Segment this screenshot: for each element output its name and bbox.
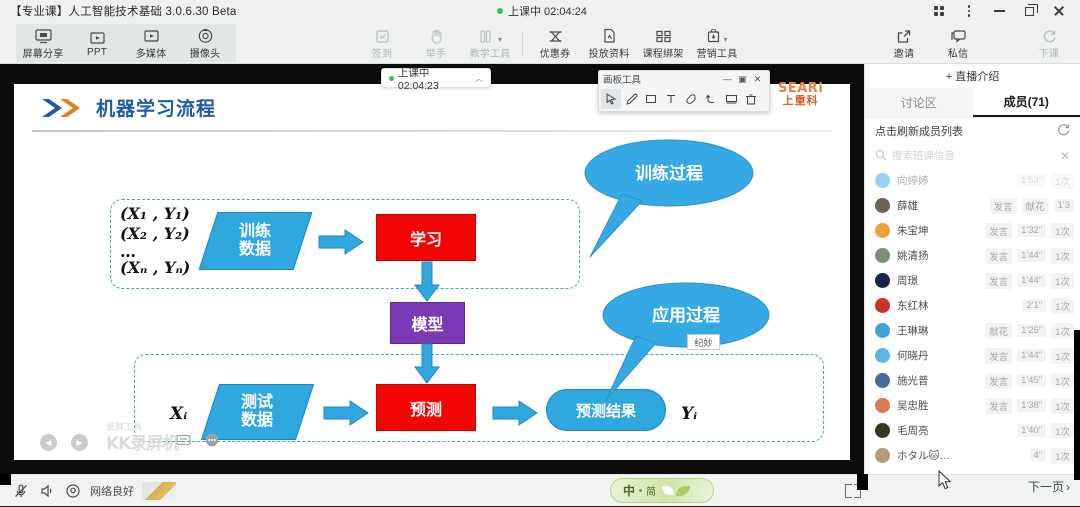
screen-share-icon [35,27,52,44]
next-page-label: 下一页 [1028,478,1064,495]
artifact-square-center [857,474,868,490]
speaker-icon[interactable] [34,475,60,507]
toolbar-label: 邀请 [894,45,914,60]
eraser-icon[interactable] [681,89,701,109]
member-name: 毛周亮 [897,423,929,438]
next-page-button[interactable]: 下一页 › [1028,478,1070,495]
member-row[interactable]: 周璟发言1'44"1次 [865,268,1080,293]
member-row[interactable]: ホタル🐱…4"1次 [865,443,1080,464]
close-icon[interactable] [1044,0,1074,22]
node-label-line1: 测试 [241,394,273,412]
member-row[interactable]: 东红林2'1"1次 [865,293,1080,318]
drawing-tool-title: 画板工具 [603,72,641,86]
logo-line-1: SEARi [778,82,823,95]
prev-icon[interactable]: ◀ [40,434,57,451]
node-learn: 学习 [376,214,476,261]
member-row[interactable]: 向婷婷1'53"1次 [865,168,1080,193]
member-tag: 发言 [985,248,1012,264]
toolbar-push-material[interactable]: 投放资料 [582,24,636,62]
presentation-stage: 机器学习流程 (X₁ , Y₁) (X₂ , Y₂) … (Xₙ , Yₙ) 训… [0,64,864,474]
avatar [875,298,890,313]
minimize-icon[interactable]: — [720,72,735,86]
member-row[interactable]: 姚清扬发言1'44"1次 [865,243,1080,268]
slide-canvas[interactable]: 机器学习流程 (X₁ , Y₁) (X₂ , Y₂) … (Xₙ , Yₙ) 训… [14,84,850,460]
avatar [875,223,890,238]
artifact-bar-right [1074,330,1080,480]
toolbar-raise-hand[interactable]: 举手 [409,24,463,62]
toolbar-ppt[interactable]: PPT [70,24,124,62]
ime-leaf-icon [662,486,674,495]
member-tag: 1次 [1051,223,1074,239]
arrow-predict-to-result [491,399,539,427]
toolbar-label: 签到 [372,45,392,60]
marketing-tools-icon: ▾ [706,27,727,44]
toolbar-divider [522,31,523,55]
member-tag: 1'40" [1017,424,1046,437]
seari-logo: SEARi 上重科 [778,82,823,107]
member-tags: 发言1'44"1次 [985,248,1074,264]
node-label-line2: 数据 [241,412,273,430]
drawing-tool-titlebar: 画板工具 — ▣ ✕ [599,71,769,87]
member-name: ホタル🐱… [897,448,950,463]
node-training-data: 训练 数据 [199,212,313,270]
member-name: 姚清扬 [897,248,929,263]
avatar [875,273,890,288]
close-icon[interactable]: ✕ [750,72,765,86]
maximize-icon[interactable]: ▣ [735,72,750,86]
member-tag: 1'45" [1017,374,1046,387]
bubble-application-process: 应用过程 [602,282,770,348]
member-name: 东红林 [897,298,929,313]
avatar [875,373,890,388]
close-icon[interactable]: ✕ [1060,149,1070,163]
live-class-app: 【专业课】人工智能技术基础 3.0.6.30 Beta 上课中 02:04:24… [0,0,1080,506]
member-tag: 1'44" [1017,274,1046,287]
node-test-data: 测试 数据 [201,384,314,440]
member-tags: 2'1"1次 [1022,298,1074,314]
member-name: 施光普 [897,373,929,388]
member-tag: 1次 [1051,373,1074,389]
window-title: 【专业课】人工智能技术基础 3.0.6.30 Beta [10,3,237,19]
multimedia-icon [143,27,160,44]
member-tag: 发言 [990,198,1017,214]
toolbar-label: 屏幕分享 [23,45,64,60]
coupon-icon [547,27,564,44]
camera-icon [197,27,214,44]
member-tag: 1次 [1051,398,1074,414]
camera-icon[interactable] [60,475,86,507]
math-row-4: (Xₙ , Yₙ) [120,258,190,277]
floating-class-timer[interactable]: 上课中 02:04:23 ︿ [381,68,491,88]
member-tag: 1次 [1051,448,1074,464]
member-tag: 1'25" [1017,324,1046,337]
grid-icon[interactable] [924,0,954,22]
cursor-icon[interactable] [601,89,621,109]
member-tag: 1次 [1051,273,1074,289]
teaching-tools-icon: ▾ [478,27,502,44]
member-tag: 发言 [985,223,1012,239]
bottom-status-bar: 网络良好 [0,474,1080,506]
member-tag: 1'44" [1017,249,1046,262]
member-tag: 献花 [1022,198,1049,214]
toolbar-label: 多媒体 [136,45,167,60]
recorder-watermark: 录屏工具 KK录屏机 [106,420,178,454]
refresh-label: 点击刷新成员列表 [875,123,963,139]
end-class-icon [1042,27,1057,44]
maximize-icon[interactable] [1014,0,1044,22]
search-icon [875,149,887,164]
toolbar-label: 投放资料 [589,45,630,60]
member-search-bar[interactable]: ✕ [865,144,1080,168]
member-tag: 4" [1030,449,1047,462]
next-icon[interactable]: ▶ [71,434,88,451]
member-tag: 发言 [985,373,1012,389]
chevron-up-icon[interactable]: ︿ [475,73,483,84]
arrow-test-to-predict [322,399,370,427]
avatar [875,398,890,413]
member-tags: 发言1'44"1次 [985,348,1074,364]
math-row-1: (X₁ , Y₁) [120,204,190,223]
member-tag: 1'32" [1017,224,1046,237]
member-tag: 1次 [1051,298,1074,314]
node-label-line2: 数据 [239,241,271,259]
member-name: 向婷婷 [897,173,929,188]
network-status: 网络良好 [90,483,134,499]
member-name: 何晓丹 [897,348,929,363]
page-title: 机器学习流程 [96,94,216,121]
private-message-icon [950,27,967,44]
toolbar-private-message[interactable]: 私信 [931,24,985,62]
member-tag: 发言 [985,273,1012,289]
member-tag: 1次 [1051,348,1074,364]
avatar [875,173,890,188]
member-tags: 1'40"1次 [1017,423,1074,439]
member-tag: 献花 [985,323,1012,339]
member-row[interactable]: 施光普发言1'45"1次 [865,368,1080,393]
checkin-icon [375,27,390,44]
mic-muted-icon[interactable] [8,475,34,507]
arrow-learn-to-model [413,261,441,303]
toolbar-checkin[interactable]: 签到 [355,24,409,62]
toolbar-screen-share[interactable]: 屏幕分享 [16,24,70,62]
node-predict: 预测 [376,384,476,431]
toolbar-label: 下课 [1039,45,1059,60]
ppt-icon [89,29,106,46]
whiteboard-icon[interactable] [721,89,741,109]
member-row[interactable]: 毛周亮1'40"1次 [865,418,1080,443]
member-name: 周璟 [897,273,918,288]
course-bind-icon [655,27,672,44]
live-status: 上课中 02:04:24 [497,0,587,22]
artifact-square-left [0,474,11,485]
member-tag: 1'38" [1017,399,1046,412]
toolbar-marketing-tools[interactable]: ▾ 营销工具 [690,24,744,62]
toolbar-label: 课程绑架 [643,45,684,60]
ime-dot-icon [639,489,642,492]
ime-floating-bar[interactable]: 中 简 [610,478,714,503]
member-tag: 2'1" [1022,299,1046,312]
member-tag: 发言 [985,348,1012,364]
member-tags: 发言1'44"1次 [985,273,1074,289]
toolbar-multimedia[interactable]: 多媒体 [124,24,178,62]
refresh-icon[interactable] [1057,123,1070,139]
more-icon[interactable] [205,433,219,452]
avatar [875,323,890,338]
avatar [875,198,890,213]
toolbar-label: 举手 [426,45,446,60]
member-name: 薛雄 [897,198,918,213]
node-label-line1: 训练 [239,223,271,241]
member-tag: 1'44" [1017,349,1046,362]
member-tags: 1'53"1次 [1017,173,1074,189]
member-tags: 4"1次 [1030,448,1074,464]
drawing-tool-window[interactable]: 画板工具 — ▣ ✕ [598,70,770,112]
avatar [875,348,890,363]
logo-line-2: 上重科 [778,96,823,107]
member-row[interactable]: 朱宝坤发言1'32"1次 [865,218,1080,243]
toolbar-invite[interactable]: 邀请 [877,24,931,62]
member-tags: 发言1'38"1次 [985,398,1074,414]
toolbar-end-class[interactable]: 下课 [1022,24,1076,62]
window-controls [924,0,1074,22]
title-divider [32,130,832,132]
avatar [875,448,890,463]
watermark-top-text: 录屏工具 [106,420,178,433]
floating-timer-text: 上课中 02:04:23 [398,65,471,92]
member-name: 吴忠胜 [897,398,929,413]
drawing-tool-buttons [599,87,769,111]
invite-icon [896,27,912,44]
toolbar-label: 优惠券 [540,45,571,60]
member-tag: 1次 [1051,173,1074,189]
bubble-label: 应用过程 [602,301,770,326]
member-tag: 1次 [1051,323,1074,339]
tab-members[interactable]: 成员(71) [973,88,1080,117]
member-row[interactable]: 王琳琳献花1'25"1次 [865,318,1080,343]
member-name: 王琳琳 [897,323,929,338]
cursor-nametag: 纪妙 [687,334,720,350]
member-tags: 发言1'45"1次 [985,373,1074,389]
math-row-2: (X₂ , Y₂) [120,224,190,243]
main-toolbar: 屏幕分享 PPT 多媒体 摄像头 签到 [0,22,1080,64]
toolbar-label: 教学工具 [470,45,511,60]
avatar [875,248,890,263]
member-tags: 献花1'25"1次 [985,323,1074,339]
live-dot-icon [497,8,503,14]
member-tag: 发言 [985,398,1012,414]
trash-icon[interactable] [741,89,761,109]
toolbar-label: 私信 [948,45,968,60]
member-row[interactable]: 吴忠胜发言1'38"1次 [865,393,1080,418]
bubble-label: 训练过程 [584,159,754,184]
member-row[interactable]: 薛雄发言献花1'3 [865,193,1080,218]
double-chevron-icon [40,97,86,119]
member-row[interactable]: 何晓丹发言1'44"1次 [865,343,1080,368]
ime-lang[interactable]: 中 [623,482,635,499]
slide-header: 机器学习流程 [40,94,216,121]
refresh-member-list[interactable]: 点击刷新成员列表 [865,118,1080,144]
preview-thumbnail[interactable] [142,482,176,500]
toolbar-course-bind[interactable]: 课程绑架 [636,24,690,62]
toolbar-camera[interactable]: 摄像头 [178,24,232,62]
title-bar: 【专业课】人工智能技术基础 3.0.6.30 Beta 上课中 02:04:24 [0,0,1080,22]
text-icon[interactable] [661,89,681,109]
right-panel: + 直播介绍 讨论区 成员(71) 点击刷新成员列表 ✕ 向婷婷1'53"1次薛… [864,64,1080,474]
toolbar-coupon[interactable]: 优惠券 [528,24,582,62]
member-tags: 发言献花1'3 [990,198,1074,214]
live-intro-link[interactable]: + 直播介绍 [865,64,1080,88]
bubble-training-process: 训练过程 [584,139,754,207]
live-status-text: 上课中 02:04:24 [508,3,587,19]
toolbar-teaching-tools[interactable]: ▾ 教学工具 [463,24,517,62]
pencil-icon[interactable] [621,89,641,109]
drawing-tool-window-buttons: — ▣ ✕ [720,72,765,86]
live-dot-icon [389,76,394,81]
undo-icon[interactable] [701,89,721,109]
search-input[interactable] [892,150,1012,162]
avatar [875,423,890,438]
chevron-right-icon: › [1066,480,1070,494]
push-material-icon [602,27,617,44]
member-tag: 1'53" [1017,174,1046,187]
arrow-training-to-learn [317,228,365,256]
member-tag: 1次 [1051,248,1074,264]
toolbar-label: 营销工具 [697,45,738,60]
ime-leaf2-icon [676,486,690,496]
minimize-icon[interactable] [984,0,1014,22]
member-tag: 1次 [1051,423,1074,439]
tab-discussion[interactable]: 讨论区 [865,88,973,117]
member-tag: 1'3 [1054,199,1074,212]
watermark-text: KK录屏机 [106,434,178,454]
node-model: 模型 [390,302,465,344]
toolbar-label: 摄像头 [190,45,221,60]
arrow-model-to-predict [413,343,441,385]
member-name: 朱宝坤 [897,223,929,238]
panel-tabs: 讨论区 成员(71) [865,88,1080,118]
toolbar-label: PPT [87,47,107,58]
mouse-cursor [938,470,953,491]
rectangle-icon[interactable] [641,89,661,109]
ime-mode[interactable]: 简 [646,483,656,498]
member-list[interactable]: 向婷婷1'53"1次薛雄发言献花1'3朱宝坤发言1'32"1次姚清扬发言1'44… [865,168,1080,464]
member-tags: 发言1'32"1次 [985,223,1074,239]
raise-hand-icon [429,27,444,44]
more-vertical-icon[interactable] [954,0,984,22]
